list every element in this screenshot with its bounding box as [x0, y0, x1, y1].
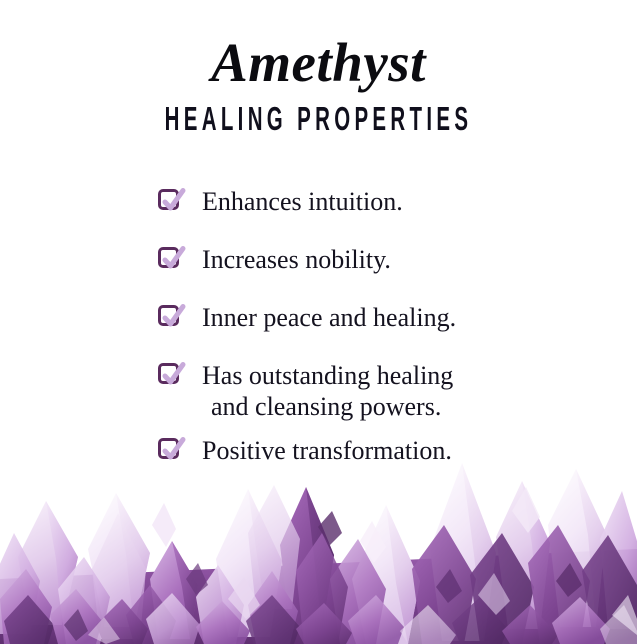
list-item-label: Has outstanding healing and cleansing po… — [202, 360, 453, 422]
list-item: Enhances intuition. — [158, 186, 578, 217]
list-item-line-1: Increases nobility. — [202, 245, 391, 274]
list-item-line-1: Inner peace and healing. — [202, 303, 456, 332]
list-item-label: Increases nobility. — [202, 244, 391, 275]
list-item-label: Inner peace and healing. — [202, 302, 456, 333]
checkbox-checked-icon — [158, 247, 179, 268]
checkbox-checked-icon — [158, 363, 179, 384]
page-subtitle: HEALING PROPERTIES — [121, 100, 516, 138]
list-item: Increases nobility. — [158, 244, 578, 275]
amethyst-crystal-cluster-photo — [0, 429, 637, 644]
page-title: Amethyst — [0, 32, 637, 94]
title-block: Amethyst HEALING PROPERTIES — [0, 32, 637, 138]
list-item-label: Enhances intuition. — [202, 186, 403, 217]
crystal-cluster-graphic — [0, 429, 637, 644]
list-item-line-1: Has outstanding healing — [202, 361, 453, 390]
list-item-line-2: and cleansing powers. — [202, 391, 453, 422]
checkbox-checked-icon — [158, 305, 179, 326]
amethyst-poster: Amethyst HEALING PROPERTIES Enhances int… — [0, 0, 637, 644]
list-item: Inner peace and healing. — [158, 302, 578, 333]
checkbox-checked-icon — [158, 189, 179, 210]
list-item-line-1: Enhances intuition. — [202, 187, 403, 216]
list-item: Has outstanding healing and cleansing po… — [158, 360, 578, 422]
